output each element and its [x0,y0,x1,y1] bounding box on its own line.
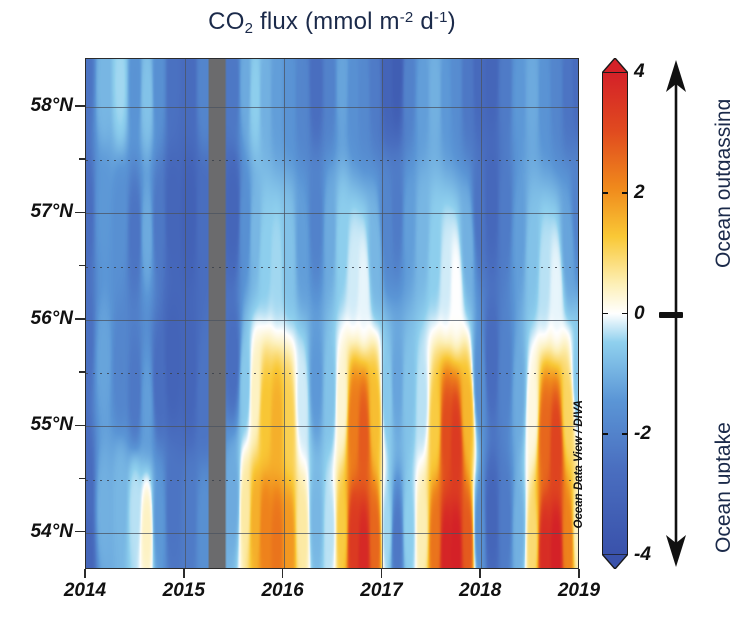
y-tick-minor-56.5 [79,265,85,267]
colorbar-max-arrow-icon [602,58,628,73]
x-axis-label-2017: 2017 [360,580,402,602]
x-axis-label-2019: 2019 [558,580,600,602]
arrow-zero-tick [659,312,683,318]
y-tick-55 [75,425,85,427]
colorbar-min-arrow-icon [602,554,628,569]
colorbar-label-0: 0 [634,303,645,325]
title-co-text: CO [208,8,244,35]
x-tick-2016 [282,569,284,578]
y-tick-minor-54.5 [79,478,85,480]
x-axis-labels: 201420152016201720182019 [85,580,579,606]
y-tick-57 [75,212,85,214]
x-tick-2017 [381,569,383,578]
title-metre-exponent: -2 [400,9,414,26]
y-tick-minor-55.5 [79,371,85,373]
y-tick-minor-57.5 [79,158,85,160]
title-co2-subscript: 2 [245,20,254,37]
colorbar-tick-2 [602,192,608,194]
x-tick-2014 [84,569,86,578]
title-day-exponent: -1 [434,9,448,26]
ocean-outgassing-label: Ocean outgassing [712,99,730,268]
title-close-paren: ) [448,8,456,35]
colorbar-label--4: -4 [634,544,651,566]
y-axis-label-55: 55°N [1,414,73,436]
x-axis-label-2014: 2014 [64,580,106,602]
colorbar-tick-0 [622,313,628,315]
y-tick-54 [75,531,85,533]
y-axis-labels: 54°N55°N56°N57°N58°N [0,58,73,569]
x-tick-2018 [479,569,481,578]
colorbar-tick-2 [622,192,628,194]
y-tick-58 [75,105,85,107]
odv-watermark: Ocean Data View / DIVA [573,400,585,528]
axis-tick-layer [85,58,579,569]
colorbar-tick--2 [622,433,628,435]
title-day-text: d [413,8,433,35]
colorbar: -4-2024 [602,58,628,569]
y-axis-label-56: 56°N [1,308,73,330]
x-tick-2015 [183,569,185,578]
x-tick-2019 [578,569,580,578]
colorbar-label-2: 2 [634,182,645,204]
y-axis-label-54: 54°N [1,521,73,543]
y-tick-56 [75,318,85,320]
chart-title: CO2 flux (mmol m-2 d-1) [85,8,579,37]
y-axis-label-57: 57°N [1,201,73,223]
colorbar-label-4: 4 [634,61,645,83]
x-axis-label-2015: 2015 [163,580,205,602]
colorbar-tick-0 [602,313,608,315]
flux-direction-annotation [663,58,689,569]
title-flux-text: flux (mmol m [253,8,400,35]
x-axis-label-2016: 2016 [261,580,303,602]
ocean-uptake-label: Ocean uptake [712,422,730,553]
x-axis-label-2018: 2018 [459,580,501,602]
colorbar-tick--2 [602,433,608,435]
y-axis-label-58: 58°N [1,95,73,117]
colorbar-label--2: -2 [634,423,651,445]
